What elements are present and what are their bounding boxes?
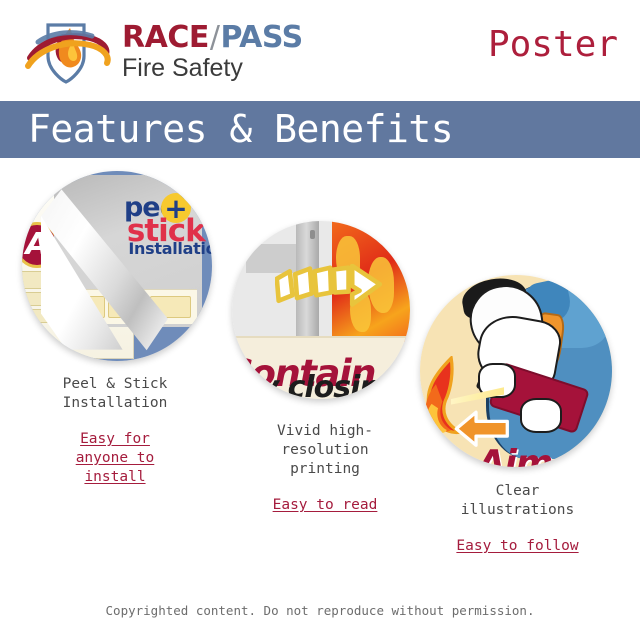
- poster-caption-band: Contain by closing: [232, 336, 410, 399]
- brand-tagline: Fire Safety: [122, 54, 382, 83]
- feature-title-line: Clear: [415, 482, 620, 501]
- feature-title-line: printing: [225, 460, 425, 479]
- page-header: RACE/PASS Fire Safety Poster: [0, 0, 640, 100]
- features-row: peel stick Installation: [0, 157, 640, 582]
- feature-benefit: Easy to follow: [415, 537, 620, 556]
- feature-caption-peel-and-stick: Peel & Stick Installation Easy for anyon…: [0, 375, 230, 487]
- feature-peel-and-stick: peel stick Installation: [0, 157, 230, 557]
- document-type-label: Poster: [488, 24, 618, 65]
- feature-image-vivid-printing: Contain by closing: [232, 221, 410, 399]
- feature-vivid-printing: Contain by closing Vivid high- resolutio…: [225, 157, 425, 557]
- section-title-band: Features & Benefits: [0, 100, 640, 158]
- aim-word: Aim: [478, 443, 553, 467]
- closing-door-arrow-icon: [275, 264, 385, 312]
- feature-caption-vivid-printing: Vivid high- resolution printing Easy to …: [225, 422, 425, 515]
- poster-features-page: RACE/PASS Fire Safety Poster Features & …: [0, 0, 640, 640]
- by-closing-words: by closing: [239, 370, 400, 399]
- door-knob-icon: [310, 230, 315, 239]
- installation-word: Installation: [128, 239, 212, 258]
- feature-benefit: Easy for anyone to install: [0, 430, 230, 487]
- feature-title-line: resolution: [225, 441, 425, 460]
- feature-title-line: Vivid high-: [225, 422, 425, 441]
- feature-title: Vivid high- resolution printing: [225, 422, 425, 479]
- feature-title-line: Installation: [0, 394, 230, 413]
- feature-title: Clear illustrations: [415, 482, 620, 520]
- page-title: Features & Benefits: [28, 107, 453, 151]
- feature-benefit-line: Easy to read: [225, 496, 425, 515]
- person-hand: [520, 398, 562, 433]
- brand-name-pass: PASS: [220, 20, 302, 55]
- feature-title: Peel & Stick Installation: [0, 375, 230, 413]
- feature-benefit-line: Easy for: [0, 430, 230, 449]
- feature-benefit-line: install: [0, 468, 230, 487]
- feature-image-clear-illustrations: Aim: [420, 275, 612, 467]
- feature-clear-illustrations: Aim Clear illustrations Easy to follow: [415, 157, 640, 557]
- feature-image-peel-and-stick: peel stick Installation: [22, 171, 212, 361]
- feature-benefit-line: Easy to follow: [415, 537, 620, 556]
- feature-title-line: Peel & Stick: [0, 375, 230, 394]
- brand-name-separator: /: [210, 20, 220, 55]
- copyright-notice: Copyrighted content. Do not reproduce wi…: [0, 603, 640, 618]
- brand-wordmark: RACE/PASS Fire Safety: [122, 22, 382, 83]
- feature-benefit-line: anyone to: [0, 449, 230, 468]
- brand-name: RACE/PASS: [122, 22, 382, 54]
- feature-title-line: illustrations: [415, 501, 620, 520]
- shield-flame-logo-icon: [18, 12, 114, 90]
- brand-name-race: RACE: [122, 20, 209, 55]
- feature-caption-clear-illustrations: Clear illustrations Easy to follow: [415, 482, 620, 556]
- feature-benefit: Easy to read: [225, 496, 425, 515]
